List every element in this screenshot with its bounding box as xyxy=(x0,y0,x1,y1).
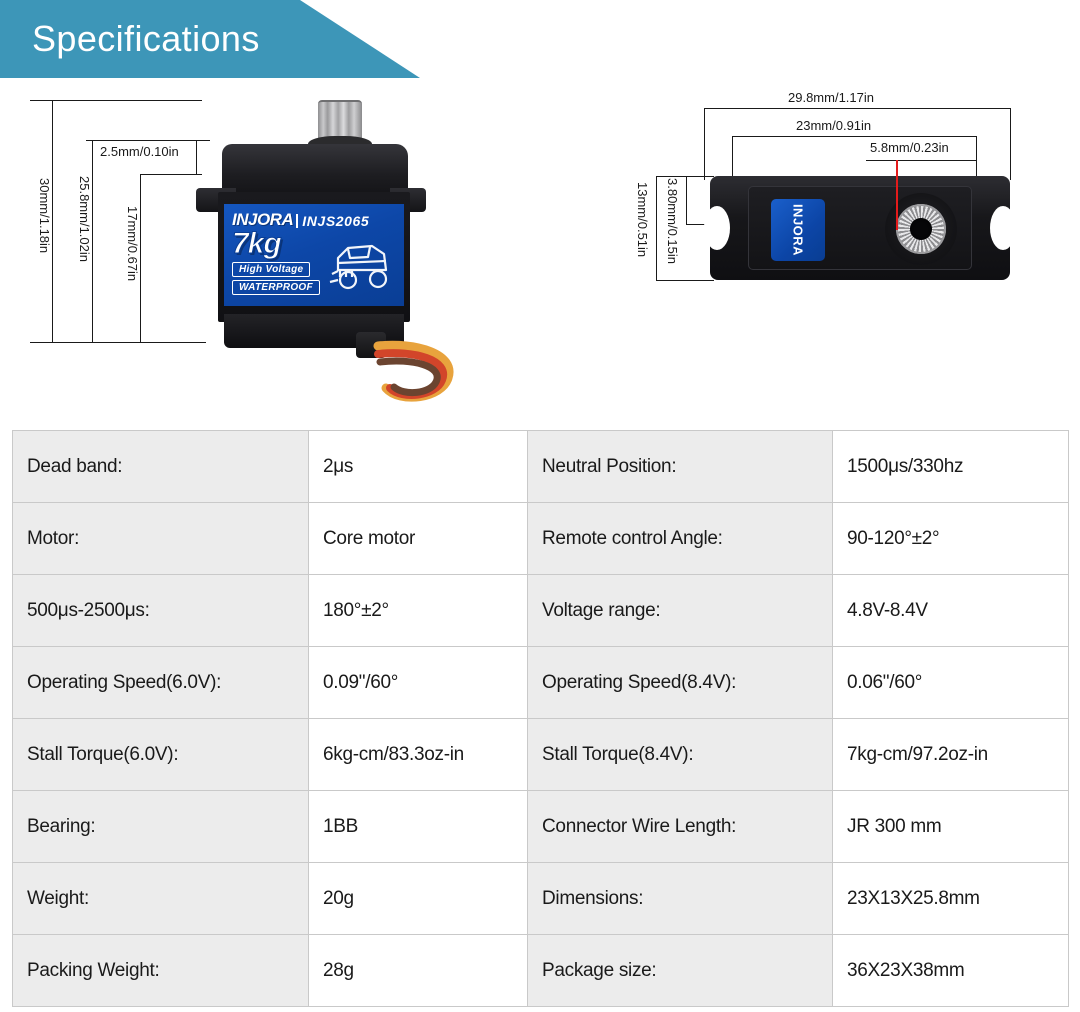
truck-graphic-icon xyxy=(324,230,398,298)
dim-label-overall-height: 30mm/1.18in xyxy=(37,178,52,253)
dim-line-30mm xyxy=(52,100,53,342)
label-model-text: INJS2065 xyxy=(296,214,369,228)
spec-label: Motor: xyxy=(13,503,309,575)
spec-label: Stall Torque(6.0V): xyxy=(13,719,309,791)
table-row: Stall Torque(6.0V): 6kg-cm/83.3oz-in Sta… xyxy=(13,719,1069,791)
spec-value: JR 300 mm xyxy=(833,791,1069,863)
dim-line-13mm xyxy=(656,176,657,280)
dim-rule-298mm xyxy=(704,108,1010,109)
spec-label: Operating Speed(6.0V): xyxy=(13,647,309,719)
table-row: Dead band: 2μs Neutral Position: 1500μs/… xyxy=(13,431,1069,503)
spec-value: 28g xyxy=(309,935,528,1007)
spec-value: 90-120°±2° xyxy=(833,503,1069,575)
spec-label: Weight: xyxy=(13,863,309,935)
dim-tick-298-l xyxy=(704,108,705,180)
dim-rule-13-top xyxy=(656,176,714,177)
dim-line-17mm xyxy=(140,174,141,342)
spec-value: 0.09"/60° xyxy=(309,647,528,719)
servo-connector-wire xyxy=(356,332,466,408)
spec-value: 7kg-cm/97.2oz-in xyxy=(833,719,1069,791)
table-row: Motor: Core motor Remote control Angle: … xyxy=(13,503,1069,575)
spec-label: Stall Torque(8.4V): xyxy=(528,719,833,791)
dim-line-380mm xyxy=(686,176,687,224)
spec-value: 6kg-cm/83.3oz-in xyxy=(309,719,528,791)
spec-label: Voltage range: xyxy=(528,575,833,647)
dim-label-body-height: 25.8mm/1.02in xyxy=(77,176,92,262)
servo-upper-case xyxy=(222,144,408,196)
servo-top-inset: INJORA xyxy=(748,186,972,270)
spec-value: Core motor xyxy=(309,503,528,575)
label-brand-text: INJORA xyxy=(232,211,293,228)
dim-label-flange-thickness: 2.5mm/0.10in xyxy=(100,144,179,159)
product-figures: 30mm/1.18in 25.8mm/1.02in 17mm/0.67in 2.… xyxy=(0,78,1080,426)
mounting-notch-left xyxy=(704,206,730,250)
spec-value: 180°±2° xyxy=(309,575,528,647)
spec-value: 36X23X38mm xyxy=(833,935,1069,1007)
spec-label: Dimensions: xyxy=(528,863,833,935)
dim-label-flange-width: 3.80mm/0.15in xyxy=(665,178,680,264)
dim-rule-23mm xyxy=(732,136,976,137)
side-view-figure: 30mm/1.18in 25.8mm/1.02in 17mm/0.67in 2.… xyxy=(0,78,520,426)
dim-rule-58mm xyxy=(866,160,976,161)
dim-rule-bot-30mm xyxy=(30,342,206,343)
dim-label-body-width: 13mm/0.51in xyxy=(635,182,650,257)
label-high-voltage-badge: High Voltage xyxy=(232,262,310,277)
dim-tick-23-r xyxy=(976,136,977,180)
spec-value: 23X13X25.8mm xyxy=(833,863,1069,935)
dim-tick-298-r xyxy=(1010,108,1011,180)
label-waterproof-badge: WATERPROOF xyxy=(232,280,320,295)
table-row: Weight: 20g Dimensions: 23X13X25.8mm xyxy=(13,863,1069,935)
dim-tick-23-l xyxy=(732,136,733,180)
top-view-figure: 29.8mm/1.17in 23mm/0.91in 5.8mm/0.23in 1… xyxy=(620,78,1080,426)
spec-label: Connector Wire Length: xyxy=(528,791,833,863)
specifications-table: Dead band: 2μs Neutral Position: 1500μs/… xyxy=(12,430,1069,1007)
dim-label-case-height: 17mm/0.67in xyxy=(125,206,140,281)
servo-side-image: INJORA INJS2065 7kg High Voltage WATERPR… xyxy=(196,100,426,370)
spec-label: 500μs-2500μs: xyxy=(13,575,309,647)
spec-value: 0.06"/60° xyxy=(833,647,1069,719)
servo-top-image: INJORA xyxy=(710,176,1010,280)
output-spline-hole xyxy=(910,218,932,240)
top-brand-label: INJORA xyxy=(771,199,825,261)
dim-label-spline-offset: 5.8mm/0.23in xyxy=(870,140,949,155)
spec-value: 4.8V-8.4V xyxy=(833,575,1069,647)
dim-rule-top-258mm xyxy=(86,140,210,141)
spec-label: Dead band: xyxy=(13,431,309,503)
table-row: 500μs-2500μs: 180°±2° Voltage range: 4.8… xyxy=(13,575,1069,647)
spec-value: 2μs xyxy=(309,431,528,503)
dim-label-body-length: 23mm/0.91in xyxy=(796,118,871,133)
table-row: Bearing: 1BB Connector Wire Length: JR 3… xyxy=(13,791,1069,863)
spline-leader-line xyxy=(896,160,898,230)
page-title: Specifications xyxy=(32,18,260,60)
spec-label: Package size: xyxy=(528,935,833,1007)
spec-value: 1BB xyxy=(309,791,528,863)
dim-rule-13-bot xyxy=(656,280,714,281)
spec-value: 20g xyxy=(309,863,528,935)
dim-rule-17mm-top xyxy=(140,174,202,175)
spec-value: 1500μs/330hz xyxy=(833,431,1069,503)
spec-label: Remote control Angle: xyxy=(528,503,833,575)
dim-label-overall-length: 29.8mm/1.17in xyxy=(788,90,874,105)
spec-label: Bearing: xyxy=(13,791,309,863)
table-row: Packing Weight: 28g Package size: 36X23X… xyxy=(13,935,1069,1007)
spec-label: Packing Weight: xyxy=(13,935,309,1007)
spec-label: Operating Speed(8.4V): xyxy=(528,647,833,719)
spec-label: Neutral Position: xyxy=(528,431,833,503)
servo-sticker-label: INJORA INJS2065 7kg High Voltage WATERPR… xyxy=(224,204,404,306)
table-row: Operating Speed(6.0V): 0.09"/60° Operati… xyxy=(13,647,1069,719)
dim-rule-top-30mm xyxy=(30,100,202,101)
dim-line-258mm xyxy=(92,140,93,342)
spec-table-body: Dead band: 2μs Neutral Position: 1500μs/… xyxy=(13,431,1069,1007)
top-brand-text: INJORA xyxy=(791,204,806,256)
mounting-notch-right xyxy=(990,206,1016,250)
specifications-banner: Specifications xyxy=(0,0,420,78)
